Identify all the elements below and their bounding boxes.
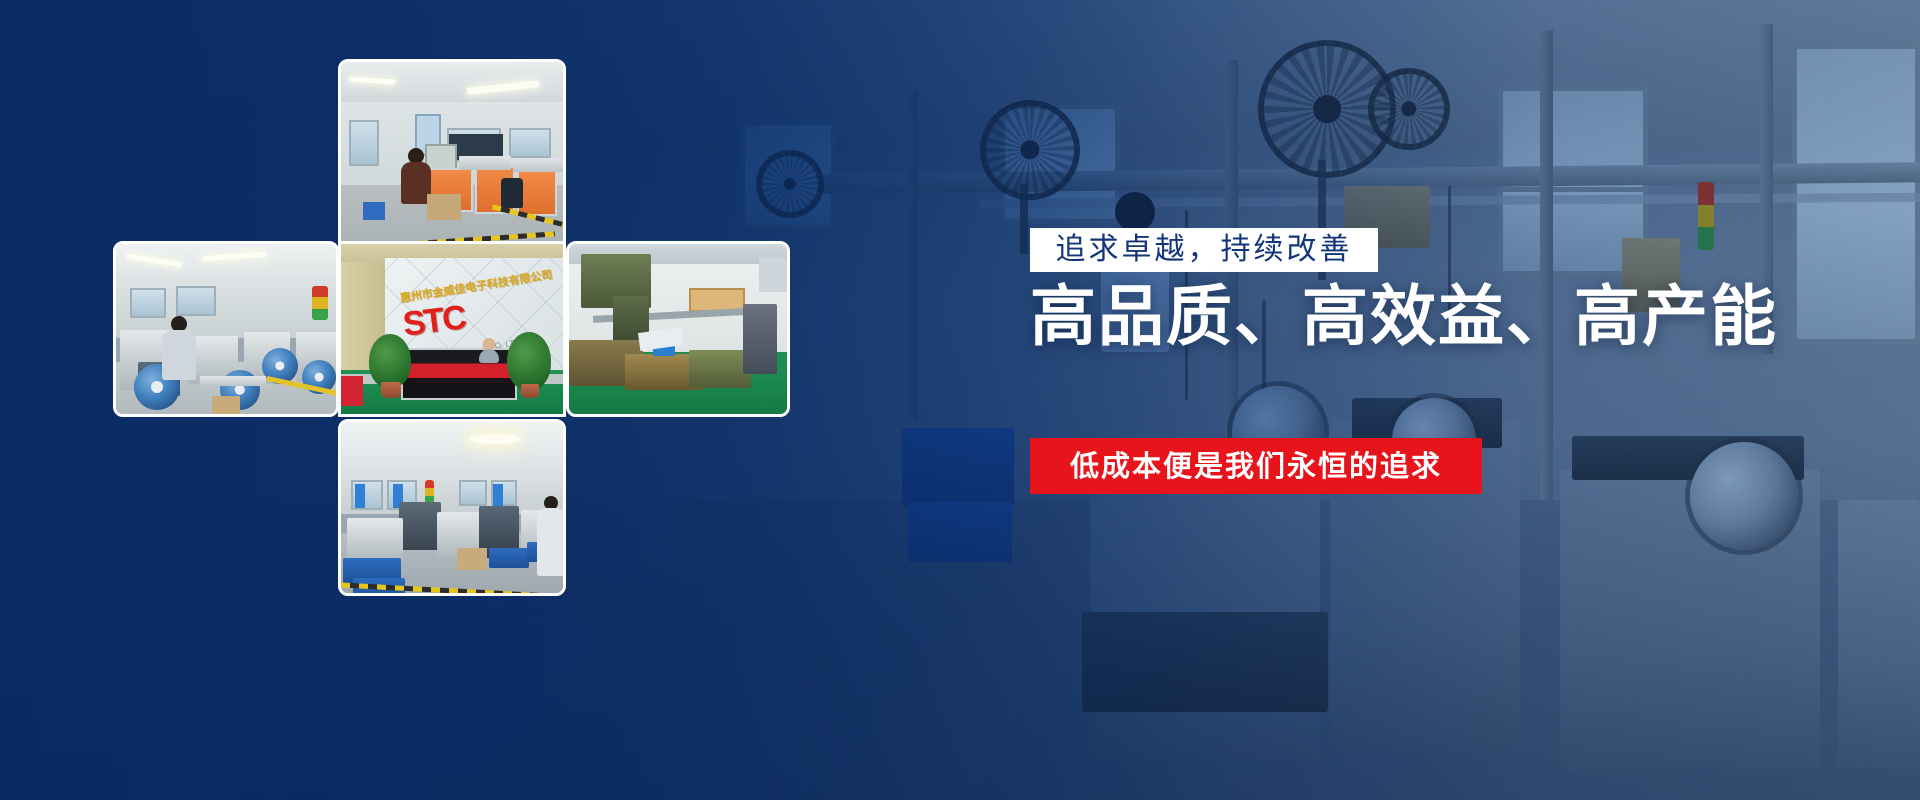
subline-banner: 低成本便是我们永恒的追求 (1030, 438, 1482, 494)
tagline-banner: 追求卓越，持续改善 (1030, 228, 1378, 272)
collage-photo-top[interactable] (338, 59, 566, 254)
tagline-text: 追求卓越，持续改善 (1056, 235, 1353, 265)
collage-photo-right[interactable] (566, 241, 790, 417)
headline-text: 高品质、高效益、高产能 (1030, 284, 1778, 350)
reception-counter (401, 348, 517, 400)
factory-hero-banner: 惠州市金威佳电子科技有限公司 STC CO. LTD (0, 0, 1920, 800)
subline-text: 低成本便是我们永恒的追求 (1070, 452, 1442, 481)
company-logo-stc: STC (401, 298, 467, 344)
collage-photo-left[interactable] (113, 241, 339, 417)
collage-photo-center[interactable]: 惠州市金威佳电子科技有限公司 STC CO. LTD (338, 241, 566, 417)
collage-photo-bottom[interactable] (338, 419, 566, 596)
